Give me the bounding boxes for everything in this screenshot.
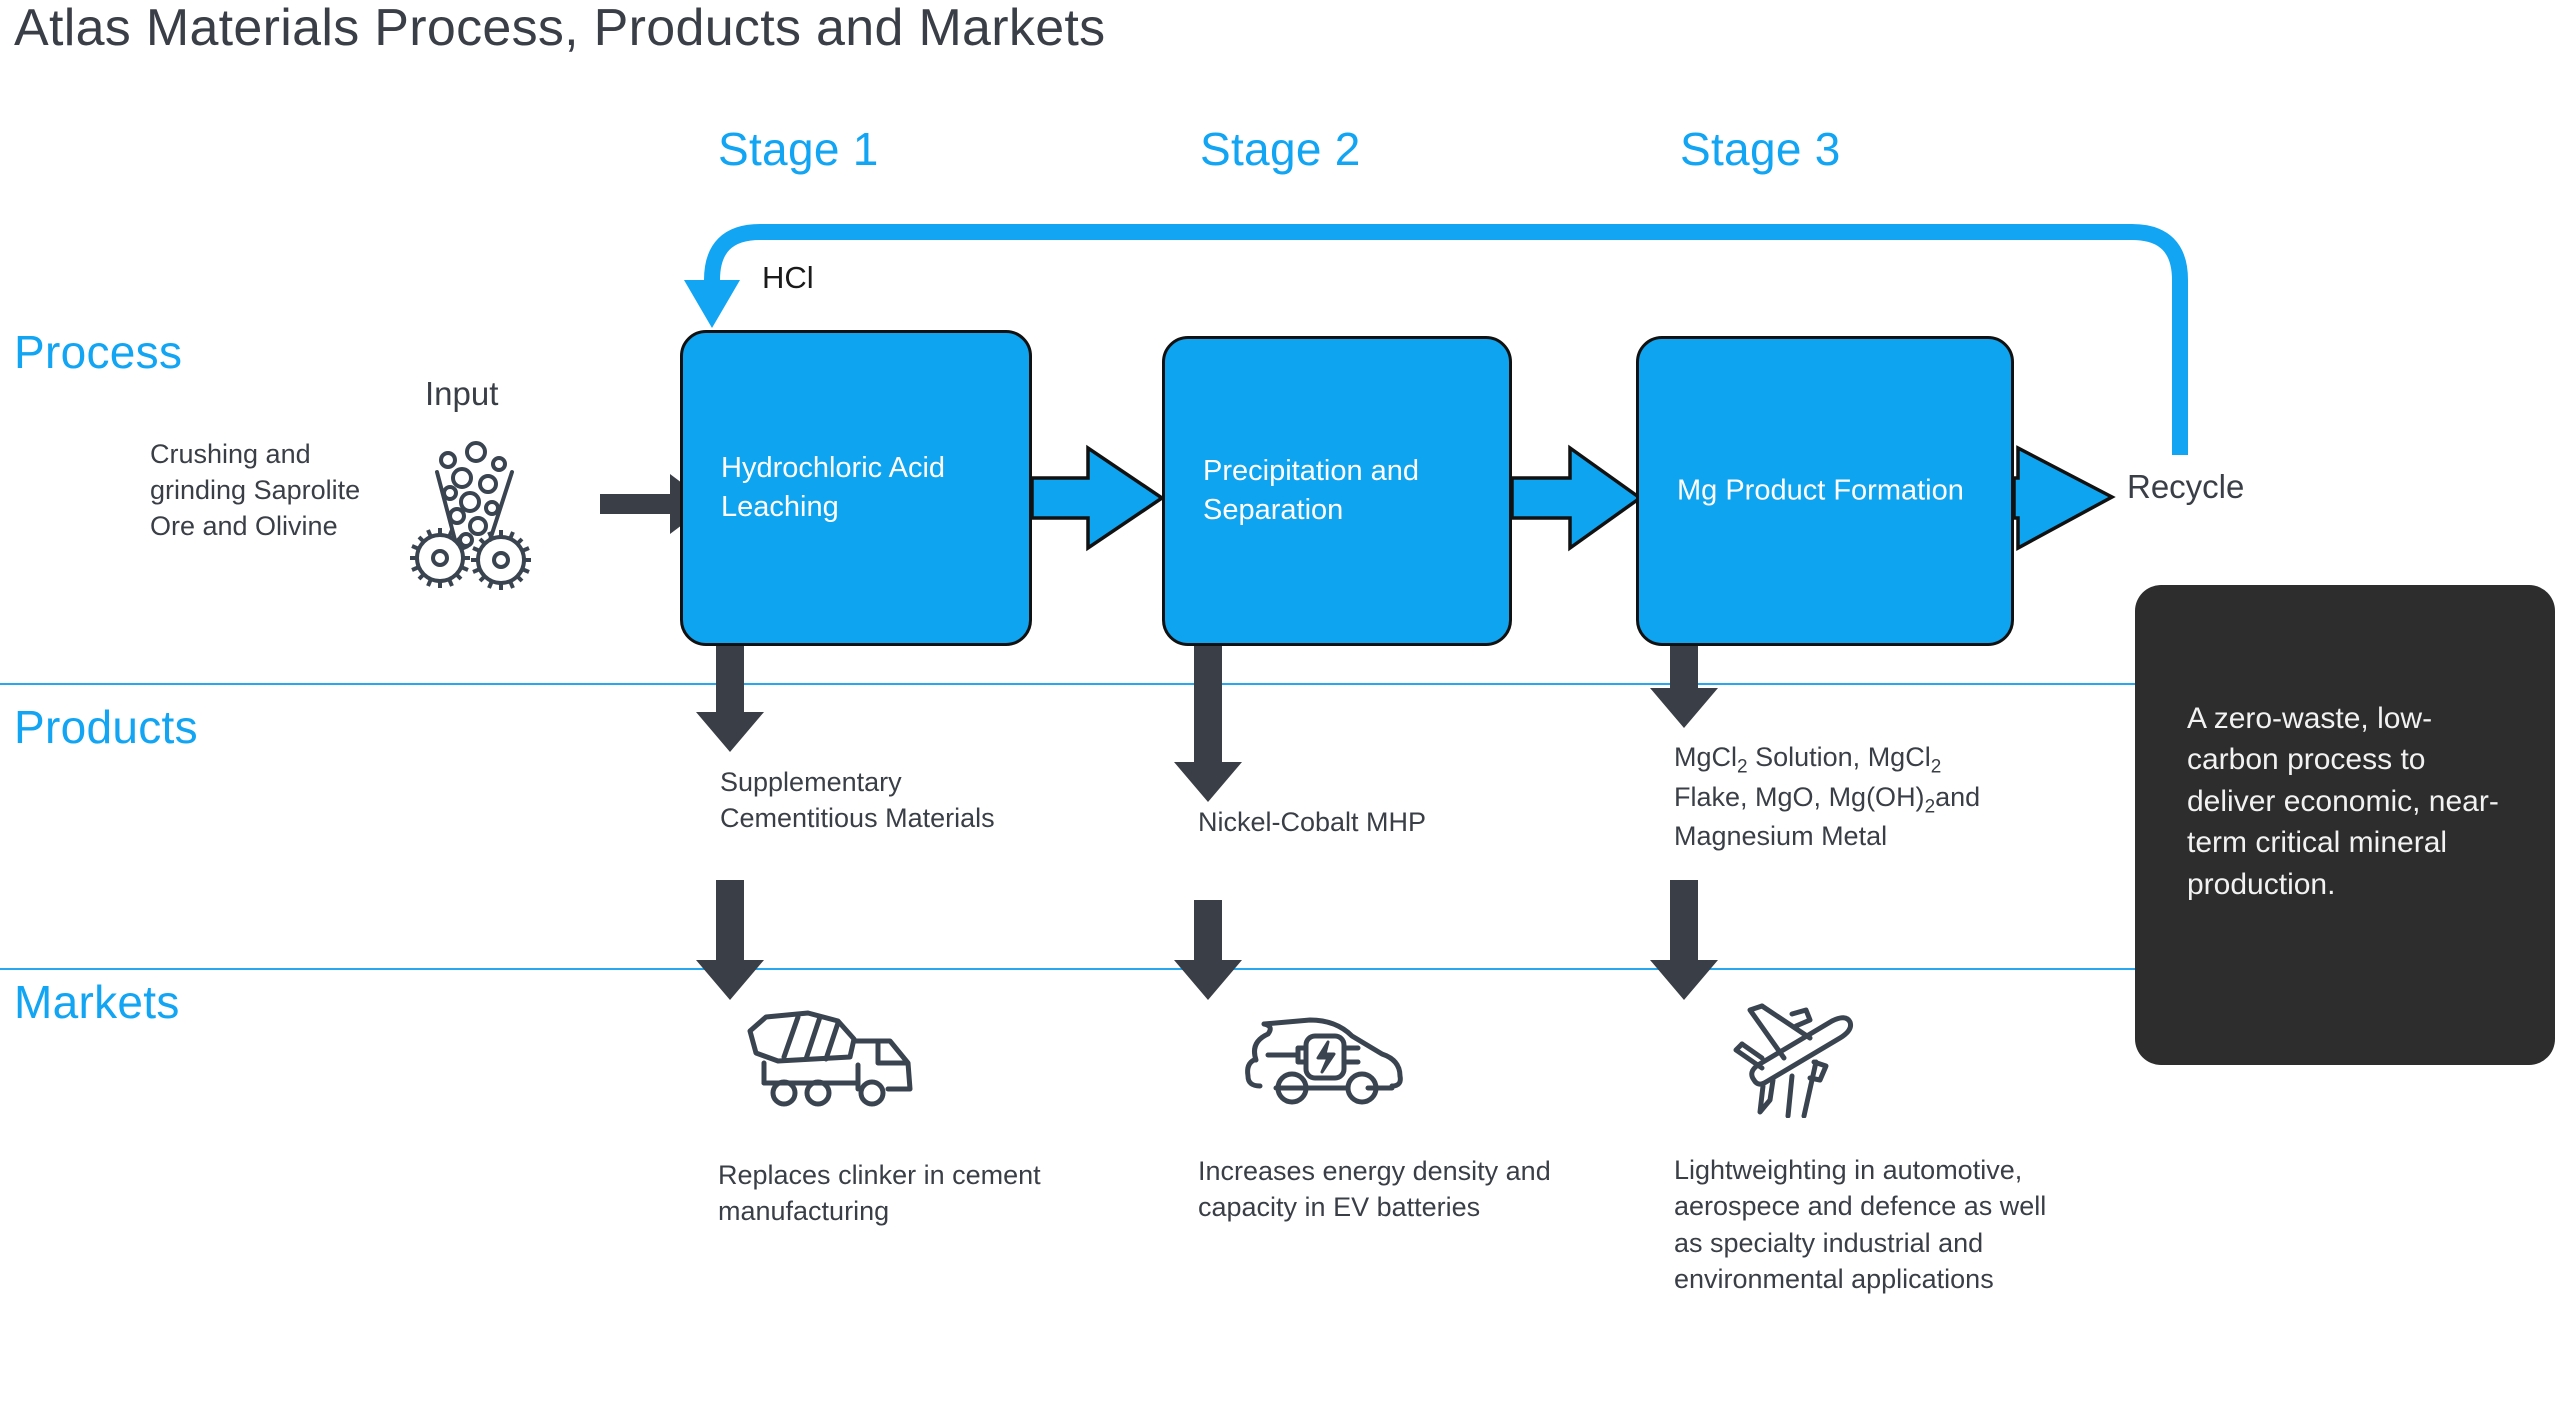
product-formula-mgoh2: Mg(OH)2and (1829, 782, 1981, 812)
process-box-label: Precipitation and Separation (1203, 452, 1509, 530)
gears-hopper-icon (400, 430, 550, 590)
row-label-process: Process (14, 325, 182, 379)
process-box-mg-product-formation[interactable]: Mg Product Formation (1636, 336, 2014, 646)
page-title: Atlas Materials Process, Products and Ma… (14, 0, 1105, 58)
stage-label-3: Stage 3 (1680, 122, 1841, 176)
stage-label-1: Stage 1 (718, 122, 879, 176)
electric-vehicle-icon (1240, 1008, 1420, 1108)
airplane-icon (1718, 988, 1888, 1118)
market-text-3: Lightweighting in automotive, aerospece … (1674, 1152, 2074, 1297)
process-box-label: Hydrochloric Acid Leaching (721, 449, 1029, 527)
row-label-markets: Markets (14, 975, 180, 1029)
svg-text:HCl: HCl (762, 260, 814, 295)
input-description: Crushing and grinding Saprolite Ore and … (150, 437, 390, 545)
product-text-2: Nickel-Cobalt MHP (1198, 805, 1528, 841)
product-magnesium-metal: Magnesium Metal (1674, 821, 1887, 851)
callout-text: A zero-waste, low-carbon process to deli… (2187, 698, 2517, 905)
row-label-products: Products (14, 700, 198, 754)
process-box-precipitation-and-separation[interactable]: Precipitation and Separation (1162, 336, 1512, 646)
recycle-label: Recycle (2127, 468, 2244, 506)
callout-panel: A zero-waste, low-carbon process to deli… (2135, 585, 2555, 1065)
process-box-hydrochloric-acid-leaching[interactable]: Hydrochloric Acid Leaching (680, 330, 1032, 646)
cement-mixer-truck-icon (738, 1005, 938, 1115)
input-label: Input (425, 375, 498, 413)
divider-products (0, 683, 2190, 685)
product-formula-mgcl2-solution: MgCl2 Solution, (1674, 742, 1860, 772)
divider-markets (0, 968, 2190, 970)
stage-label-2: Stage 2 (1200, 122, 1361, 176)
product-text-3: MgCl2 Solution, MgCl2 Flake, MgO, Mg(OH)… (1674, 740, 2004, 855)
product-text-1: Supplementary Cementitious Materials (720, 765, 1010, 837)
market-text-2: Increases energy density and capacity in… (1198, 1153, 1578, 1226)
market-text-1: Replaces clinker in cement manufacturing (718, 1157, 1138, 1230)
process-box-label: Mg Product Formation (1677, 472, 1964, 511)
